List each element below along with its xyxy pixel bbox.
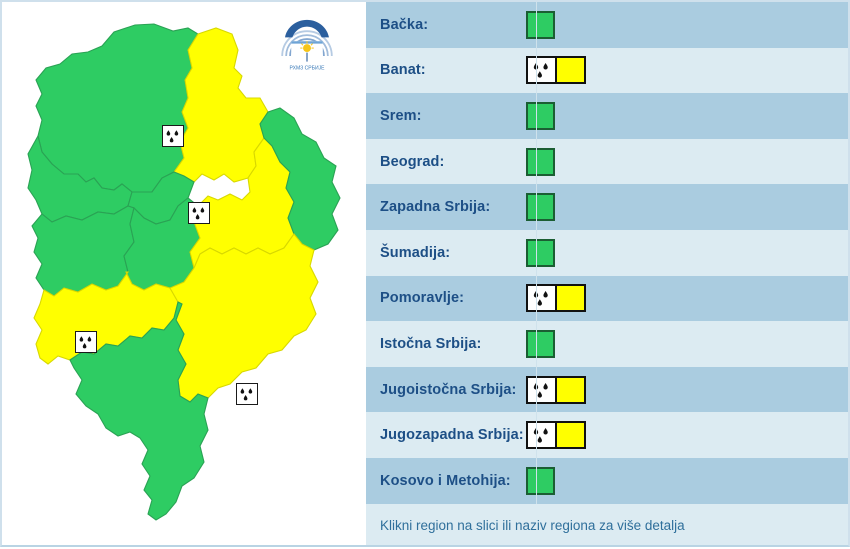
yellow-swatch <box>556 421 586 449</box>
green-swatch <box>526 239 555 267</box>
region-name-label[interactable]: Jugozapadna Srbija: <box>366 427 522 443</box>
rain-icon <box>76 332 96 352</box>
map-region-zapadna-srbija[interactable] <box>32 206 134 296</box>
region-name-label[interactable]: Beograd: <box>366 154 522 170</box>
status-badge[interactable] <box>526 193 555 221</box>
region-name-label[interactable]: Istočna Srbija: <box>366 336 522 352</box>
rain-icon-box <box>526 284 556 312</box>
rain-icon-box <box>526 56 556 84</box>
green-swatch <box>526 102 555 130</box>
rain-icon-box <box>526 421 556 449</box>
rain-icon <box>189 203 209 223</box>
status-badge[interactable] <box>526 284 586 312</box>
green-swatch <box>526 467 555 495</box>
region-legend-panel: Bačka: Banat: <box>366 0 850 547</box>
svg-text:РХМЗ СРБИЈЕ: РХМЗ СРБИЈЕ <box>289 65 325 71</box>
legend-row-sumadija[interactable]: Šumadija: <box>366 230 848 276</box>
green-swatch <box>526 148 555 176</box>
status-badge[interactable] <box>526 148 555 176</box>
legend-row-beograd[interactable]: Beograd: <box>366 139 848 185</box>
status-badge[interactable] <box>526 467 555 495</box>
status-badge[interactable] <box>526 330 555 358</box>
region-name-label[interactable]: Srem: <box>366 108 522 124</box>
status-badge[interactable] <box>526 421 586 449</box>
rain-icon <box>528 423 555 447</box>
map-pin-banat[interactable] <box>162 125 184 147</box>
map-region-backa[interactable] <box>36 24 198 192</box>
region-name-label[interactable]: Pomoravlje: <box>366 290 522 306</box>
legend-row-jugoistocna-srbija[interactable]: Jugoistočna Srbija: <box>366 367 848 413</box>
status-badge[interactable] <box>526 376 586 404</box>
rain-icon <box>528 378 555 402</box>
serbia-region-map[interactable] <box>2 2 368 549</box>
region-name-label[interactable]: Kosovo i Metohija: <box>366 473 522 489</box>
map-region-banat[interactable] <box>174 28 268 182</box>
green-swatch <box>526 193 555 221</box>
yellow-swatch <box>556 376 586 404</box>
footer-hint-row: Klikni region na slici ili naziv regiona… <box>366 504 848 547</box>
rhmz-logo: РХМЗ СРБИЈЕ <box>278 12 336 74</box>
green-swatch <box>526 330 555 358</box>
legend-row-istocna-srbija[interactable]: Istočna Srbija: <box>366 321 848 367</box>
map-panel: РХМЗ СРБИЈЕ <box>0 0 366 547</box>
region-name-label[interactable]: Bačka: <box>366 17 522 33</box>
yellow-swatch <box>556 284 586 312</box>
weather-warning-page: РХМЗ СРБИЈЕ <box>0 0 850 547</box>
legend-row-zapadna-srbija[interactable]: Zapadna Srbija: <box>366 184 848 230</box>
region-name-label[interactable]: Zapadna Srbija: <box>366 199 522 215</box>
legend-row-srem[interactable]: Srem: <box>366 93 848 139</box>
status-badge[interactable] <box>526 102 555 130</box>
status-badge[interactable] <box>526 239 555 267</box>
legend-row-pomoravlje[interactable]: Pomoravlje: <box>366 276 848 322</box>
legend-row-banat[interactable]: Banat: <box>366 48 848 94</box>
footer-hint-text: Klikni region na slici ili naziv regiona… <box>366 518 685 533</box>
rain-icon <box>528 58 555 82</box>
map-pin-jugoistocna-srbija[interactable] <box>236 383 258 405</box>
rain-icon-box <box>526 376 556 404</box>
region-name-label[interactable]: Banat: <box>366 62 522 78</box>
legend-row-backa[interactable]: Bačka: <box>366 2 848 48</box>
rain-icon <box>528 286 555 310</box>
legend-row-kosovo-i-metohija[interactable]: Kosovo i Metohija: <box>366 458 848 504</box>
map-pin-pomoravlje[interactable] <box>188 202 210 224</box>
region-name-label[interactable]: Jugoistočna Srbija: <box>366 382 522 398</box>
status-badge[interactable] <box>526 11 555 39</box>
rain-icon <box>237 384 257 404</box>
yellow-swatch <box>556 56 586 84</box>
legend-row-jugozapadna-srbija[interactable]: Jugozapadna Srbija: <box>366 412 848 458</box>
map-pin-jugozapadna-srbija[interactable] <box>75 331 97 353</box>
rain-icon <box>163 126 183 146</box>
status-badge[interactable] <box>526 56 586 84</box>
green-swatch <box>526 11 555 39</box>
region-name-label[interactable]: Šumadija: <box>366 245 522 261</box>
